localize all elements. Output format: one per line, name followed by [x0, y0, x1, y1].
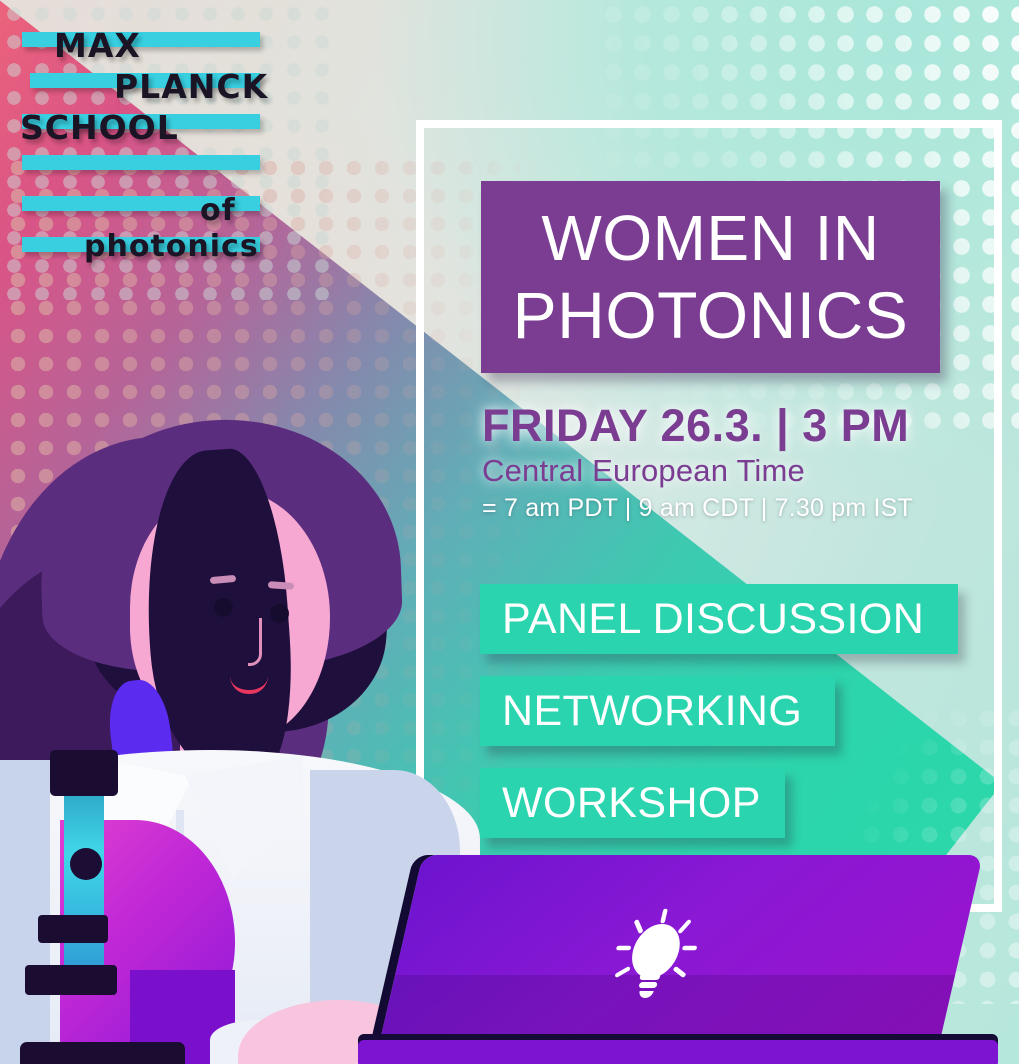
laptop-base — [358, 1040, 998, 1064]
microscope-eyepiece — [50, 750, 118, 796]
title-line-2: PHOTONICS — [513, 282, 909, 348]
banner-label-panel-discussion: PANEL DISCUSSION — [502, 595, 924, 644]
banner-panel-discussion: PANEL DISCUSSION — [480, 584, 958, 654]
microscope-stage-upper — [38, 915, 108, 943]
microscope-base — [20, 1042, 185, 1064]
title-line-1: WOMEN IN — [541, 206, 879, 270]
microscope-tube — [64, 790, 104, 970]
event-date-time: FRIDAY 26.3. | 3 PM — [482, 402, 1002, 449]
logo-word-planck: PLANCK — [114, 67, 268, 106]
lab-coat-shadow-left — [0, 760, 50, 1064]
microscope-stage-lower — [25, 965, 117, 995]
microscope-lens — [70, 848, 102, 880]
banner-networking: NETWORKING — [480, 676, 835, 746]
event-poster: MAX PLANCK SCHOOL of photonics — [0, 0, 1019, 1064]
eye-left — [214, 598, 233, 617]
banner-label-workshop: WORKSHOP — [502, 779, 761, 828]
logo-word-max: MAX — [54, 26, 141, 65]
eye-right — [270, 604, 289, 623]
event-timezone: Central European Time — [482, 453, 1002, 489]
banner-workshop: WORKSHOP — [480, 768, 785, 838]
date-block: FRIDAY 26.3. | 3 PM Central European Tim… — [482, 402, 1002, 523]
logo-word-of: of — [200, 193, 236, 228]
logo-bar-4 — [22, 155, 260, 170]
timezone-conversions: = 7 am PDT | 9 am CDT | 7.30 pm IST — [482, 494, 1002, 523]
logo-word-photonics: photonics — [84, 229, 259, 264]
poster-title-block: WOMEN IN PHOTONICS — [481, 181, 940, 373]
logo-word-school: SCHOOL — [20, 108, 179, 147]
nose — [248, 618, 262, 666]
logo: MAX PLANCK SCHOOL of photonics — [22, 18, 280, 256]
banner-label-networking: NETWORKING — [502, 687, 802, 736]
